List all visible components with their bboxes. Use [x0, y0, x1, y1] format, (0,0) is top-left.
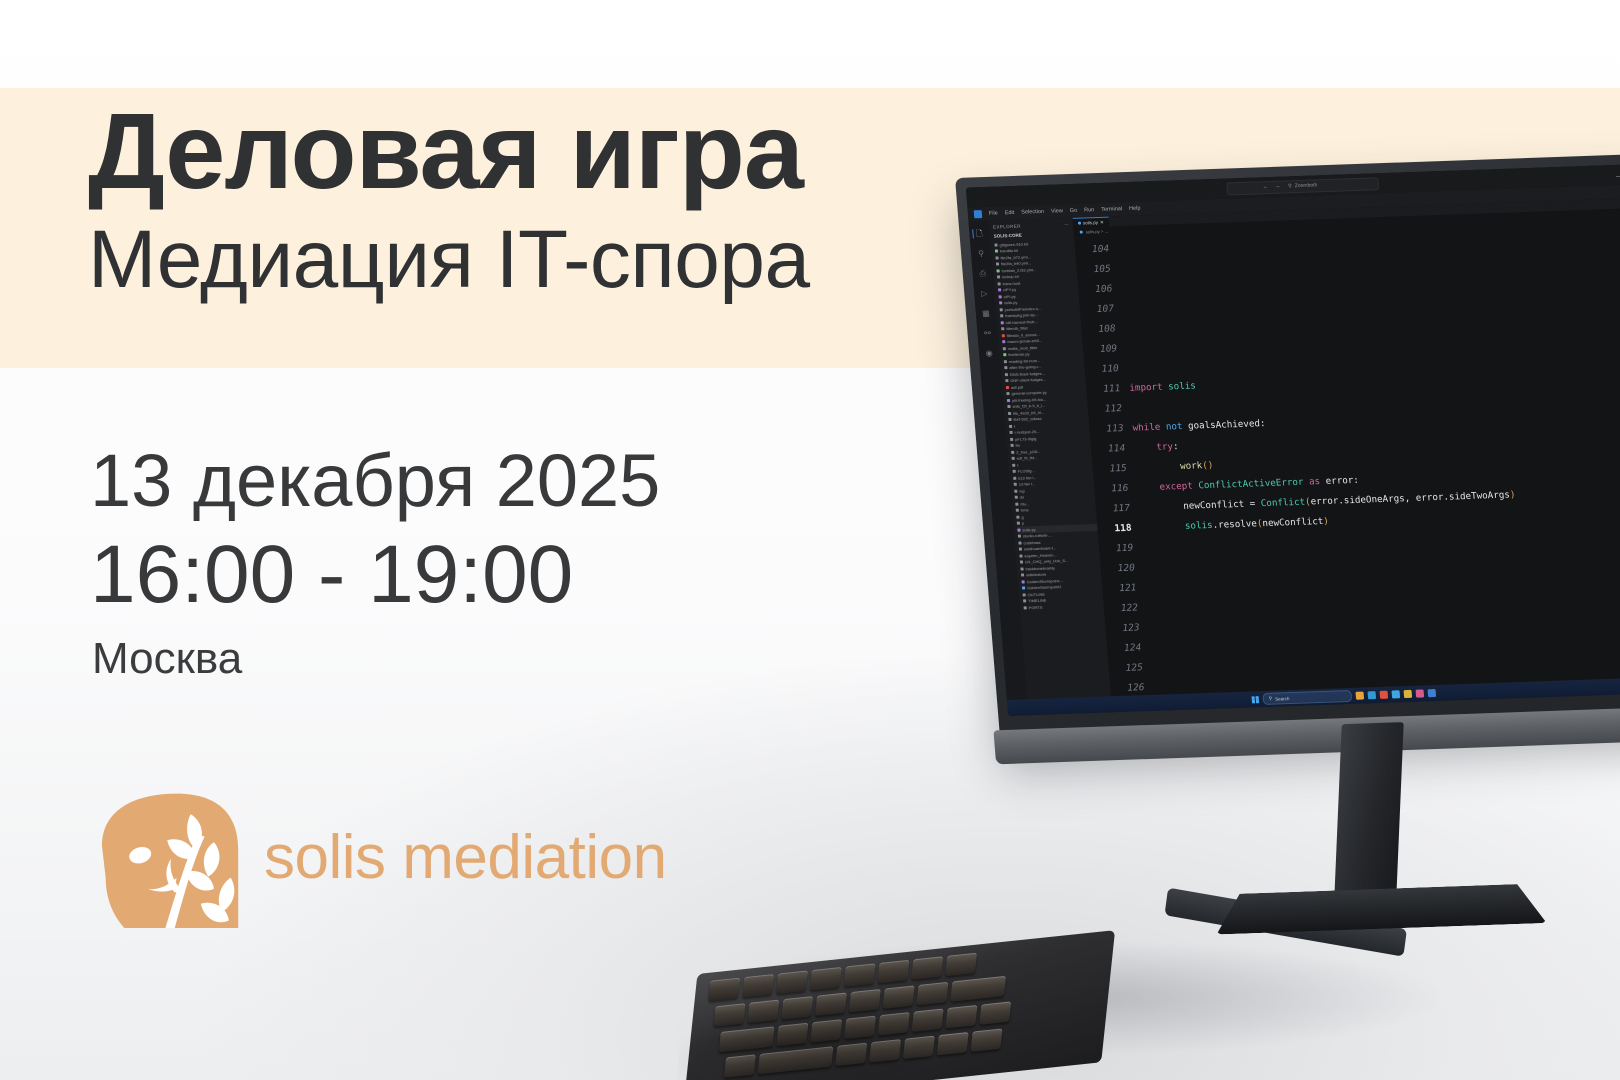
menu-item-file[interactable]: File — [989, 210, 998, 216]
file-type-icon — [1020, 561, 1023, 564]
line-number: 114 — [1090, 439, 1135, 460]
code-editor[interactable]: 104105106107108109110111import solis1121… — [1074, 217, 1620, 696]
line-number: 117 — [1095, 498, 1140, 519]
explorer-file-label: sdf_f0_fld... — [1016, 455, 1037, 461]
dove-olive-branch-icon — [96, 788, 246, 928]
file-type-icon — [1009, 425, 1012, 428]
explorer-file-label: file2fa_b40.yml... — [1001, 261, 1032, 267]
menu-item-help[interactable]: Help — [1129, 206, 1141, 212]
window-controls[interactable]: ⚊ □ ✕ — [1615, 171, 1620, 179]
explorer-file-label: FLOSfg... — [1018, 468, 1036, 474]
file-type-icon — [1017, 522, 1020, 525]
explorer-file-label: g — [1021, 514, 1024, 519]
ellipsis-icon[interactable]: ⋯ — [1064, 222, 1069, 228]
file-type-icon — [1006, 392, 1009, 395]
python-file-icon — [1078, 222, 1081, 225]
explorer-file-label: pFL73-9lglg — [1015, 436, 1037, 442]
explorer-file-label: t — [1014, 424, 1016, 429]
menu-item-view[interactable]: View — [1051, 208, 1063, 214]
file-type-icon — [1014, 489, 1017, 492]
nav-back-icon[interactable]: ← — [1262, 184, 1268, 190]
brand-lockup: solis mediation — [96, 788, 667, 928]
monitor-bezel: ← → ⚲ Zoomboth ⚊ □ ✕ File Edit Selection… — [955, 154, 1620, 746]
taskbar-app-app-yellow[interactable] — [1404, 690, 1413, 698]
explorer-file-label: ciPI.py — [1003, 294, 1015, 299]
file-type-icon — [1000, 315, 1003, 318]
explorer-file-label: 2_free_y15l... — [1016, 449, 1041, 455]
window-nav-group: ← → — [1262, 184, 1280, 191]
menu-item-terminal[interactable]: Terminal — [1101, 206, 1122, 213]
menu-item-run[interactable]: Run — [1084, 207, 1095, 213]
file-type-icon — [1002, 340, 1005, 343]
explorer-file-label: fronteras.py — [1008, 352, 1030, 358]
code-line-text: import solis — [1129, 377, 1197, 399]
taskbar-app-charts-app[interactable] — [1428, 689, 1437, 697]
file-type-icon — [1012, 464, 1015, 467]
file-type-icon — [1009, 431, 1012, 434]
code-line-text: try: — [1133, 437, 1179, 458]
file-type-icon — [1015, 496, 1018, 499]
explorer-file-label: filterdb_filter — [1006, 326, 1028, 332]
line-number: 108 — [1081, 319, 1126, 340]
file-type-icon — [1021, 574, 1024, 577]
taskbar-search-placeholder: Search — [1275, 696, 1290, 701]
line-number: 123 — [1105, 618, 1150, 639]
explorer-header: EXPLORER ⋯ — [993, 222, 1074, 231]
close-icon[interactable]: ✕ — [1100, 219, 1104, 225]
file-type-icon — [1012, 457, 1015, 460]
explorer-file-label: librf-532_odioso — [1013, 416, 1042, 422]
file-type-icon — [999, 295, 1002, 298]
explorer-file-label: solis.py — [1022, 527, 1036, 532]
explorer-file-label: franz.host — [1002, 280, 1020, 286]
explorer-file-label: ciPY.py — [1003, 287, 1016, 292]
page-title: Деловая игра — [88, 96, 988, 206]
monitor-stand-neck — [1334, 722, 1404, 914]
file-type-icon — [996, 263, 999, 266]
explorer-file-label: da — [1020, 495, 1025, 500]
poster-canvas: ← → ⚲ Zoomboth ⚊ □ ✕ File Edit Selection… — [0, 0, 1620, 1080]
file-type-icon — [996, 269, 999, 272]
explorer-file-label: 13 fan l... — [1019, 481, 1036, 487]
file-type-icon — [1008, 418, 1011, 421]
file-type-icon — [1020, 567, 1023, 570]
line-number: 113 — [1089, 419, 1134, 440]
menu-item-go[interactable]: Go — [1070, 208, 1078, 214]
file-type-icon — [995, 256, 998, 259]
line-number: 105 — [1076, 259, 1121, 280]
python-file-icon — [1080, 231, 1083, 234]
explorer-file-label: ritu... — [1020, 501, 1029, 506]
explorer-file-label: r-hotspot-25... — [1014, 429, 1039, 435]
file-type-icon — [1004, 366, 1007, 369]
explorer-file-label: adf.pdf — [1011, 384, 1024, 389]
file-type-icon — [995, 250, 998, 253]
taskbar-search-input[interactable]: ⚲ Search — [1262, 690, 1352, 705]
file-type-icon — [1013, 476, 1016, 479]
file-type-icon — [1015, 502, 1018, 505]
explorer-file-label: OUTLINE — [1027, 591, 1045, 597]
extensions-icon[interactable]: ▦ — [981, 309, 991, 318]
explorer-file-label: oldlinkstore — [1026, 572, 1047, 578]
explorer-file-label: backbonebrainly — [1025, 565, 1055, 571]
file-type-icon — [994, 243, 997, 246]
line-number: 106 — [1078, 279, 1123, 300]
menu-item-edit[interactable]: Edit — [1005, 210, 1015, 216]
explorer-file-label: bandits.txt — [1000, 248, 1019, 254]
event-date: 13 декабря 2025 — [90, 440, 660, 523]
line-number: 104 — [1074, 239, 1119, 260]
line-number: 126 — [1110, 678, 1155, 696]
event-time: 16:00 - 19:00 — [90, 529, 660, 621]
taskbar-app-file-explorer[interactable] — [1355, 692, 1364, 700]
monitor-screen: ← → ⚲ Zoomboth ⚊ □ ✕ File Edit Selection… — [966, 164, 1620, 716]
line-number: 110 — [1084, 359, 1129, 380]
line-number: 120 — [1100, 558, 1145, 579]
editor-tab-label: solis.py — [1083, 220, 1098, 226]
line-number: 125 — [1108, 658, 1153, 679]
file-type-icon — [1005, 373, 1008, 376]
brand-wordmark: solis mediation — [264, 827, 667, 889]
file-type-icon — [1011, 451, 1014, 454]
search-icon: ⚲ — [1288, 183, 1292, 189]
file-type-icon — [1007, 405, 1010, 408]
explorer-file-label: coldrbass — [1023, 540, 1041, 546]
file-type-icon — [1001, 327, 1004, 330]
breadcrumb-path: solis.py > ... — [1086, 229, 1109, 235]
file-type-icon — [1011, 444, 1014, 447]
file-type-icon — [1016, 515, 1019, 518]
taskbar-app-app-pink[interactable] — [1416, 689, 1425, 697]
file-type-icon — [1018, 541, 1021, 544]
monitor-chin — [993, 706, 1620, 764]
file-type-icon — [1019, 548, 1022, 551]
nav-forward-icon[interactable]: → — [1274, 184, 1280, 190]
explorer-file-label: malta_mod_filter — [1008, 345, 1038, 351]
explorer-file-label: lfa — [1015, 443, 1020, 448]
headline-block: Деловая игра Медиация IT-спора — [88, 96, 988, 305]
explorer-file-label: mp — [1019, 488, 1025, 493]
file-type-icon — [1014, 483, 1017, 486]
event-details-block: 13 декабря 2025 16:00 - 19:00 Москва — [90, 440, 660, 686]
file-type-icon — [1013, 470, 1016, 473]
menu-item-selection[interactable]: Selection — [1021, 209, 1044, 216]
explorer-root-folder[interactable]: SOLIS-CORE — [994, 231, 1074, 239]
line-number: 119 — [1098, 538, 1143, 559]
file-type-icon — [999, 302, 1002, 305]
account-icon[interactable]: ◉ — [984, 349, 994, 358]
file-type-icon — [1019, 554, 1022, 557]
file-type-icon — [1003, 353, 1006, 356]
file-type-icon — [998, 289, 1001, 292]
search-icon: ⚲ — [1269, 696, 1273, 702]
window-workarea: 🗋 ⚲ ⎙ ▷ ▦ ⚯ ◉ EXPLORER ⋯ SOLIS-CORE — [969, 198, 1620, 700]
taskbar-app-telegram[interactable] — [1392, 690, 1401, 698]
line-number: 111 — [1086, 379, 1131, 400]
monitor: ← → ⚲ Zoomboth ⚊ □ ✕ File Edit Selection… — [955, 154, 1620, 776]
file-type-icon — [1007, 399, 1010, 402]
explorer-file-label: p — [1022, 521, 1025, 526]
explorer-file-label: gitignore-910.txt — [999, 241, 1028, 247]
remote-icon[interactable]: ⚯ — [983, 329, 993, 338]
explorer-file-label: solis.py — [1004, 300, 1018, 305]
explorer-file-label: lockup.sh — [1002, 274, 1019, 280]
file-type-icon — [1002, 334, 1005, 337]
file-type-icon — [997, 276, 1000, 279]
line-number: 107 — [1079, 299, 1124, 320]
line-number: 115 — [1092, 459, 1137, 480]
line-number: 122 — [1103, 598, 1148, 619]
line-number: 118 — [1097, 518, 1142, 539]
file-type-icon — [1000, 308, 1003, 311]
file-type-icon — [997, 282, 1000, 285]
taskbar-app-icons[interactable] — [1355, 689, 1436, 700]
event-city: Москва — [92, 633, 660, 686]
file-type-icon — [1018, 535, 1021, 538]
file-type-icon — [1023, 600, 1026, 603]
windows-start-icon[interactable] — [1251, 696, 1259, 703]
line-number: 116 — [1094, 479, 1139, 500]
file-type-icon — [1022, 587, 1025, 590]
explorer-title: EXPLORER — [993, 224, 1021, 231]
explorer-file-label: k13 fan l... — [1018, 475, 1037, 481]
file-type-icon — [1021, 580, 1024, 583]
file-type-icon — [1016, 509, 1019, 512]
file-type-icon — [1008, 412, 1011, 415]
explorer-file-label: PORTS — [1028, 605, 1042, 610]
file-type-icon — [1005, 379, 1008, 382]
file-type-icon — [1023, 593, 1026, 596]
file-type-icon — [1001, 321, 1004, 324]
editor-area: solis.py ✕ solis.py > ... 10410510610710… — [1073, 198, 1620, 696]
explorer-file-label: studio-rolfsrbi-... — [1023, 533, 1052, 539]
file-type-icon — [1006, 386, 1009, 389]
taskbar-app-app-red[interactable] — [1380, 691, 1389, 699]
taskbar-app-edge-browser[interactable] — [1368, 691, 1377, 699]
command-palette-placeholder: Zoomboth — [1295, 182, 1318, 189]
explorer-file-label: file2fa_b72.yml... — [1000, 254, 1031, 260]
file-type-icon — [1003, 347, 1006, 350]
file-type-icon — [1017, 528, 1020, 531]
line-number: 109 — [1082, 339, 1127, 360]
line-number: 112 — [1087, 399, 1132, 420]
file-type-icon — [1010, 438, 1013, 441]
file-type-icon — [1004, 360, 1007, 363]
line-number: 121 — [1102, 578, 1147, 599]
explorer-file-label: bme — [1021, 508, 1029, 513]
explorer-file-label: t — [1017, 462, 1019, 467]
command-palette-search[interactable]: ⚲ Zoomboth — [1226, 177, 1379, 195]
code-line-text: work() — [1135, 456, 1214, 479]
file-type-icon — [1024, 606, 1027, 609]
line-number: 124 — [1107, 638, 1152, 659]
explorer-file-label: TIMELINE — [1028, 598, 1047, 604]
page-subtitle: Медиация IT-спора — [88, 216, 988, 305]
